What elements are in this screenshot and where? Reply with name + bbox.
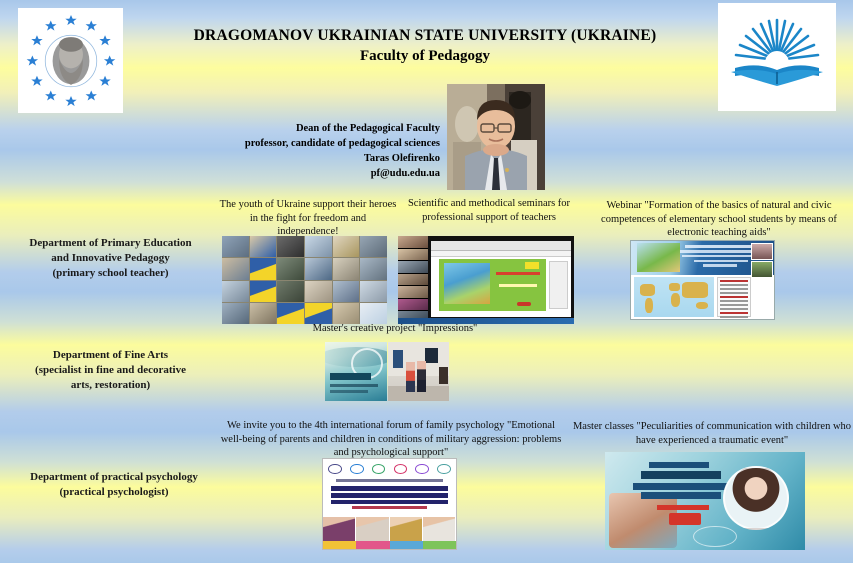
dean-email: pf@udu.edu.ua [190, 167, 440, 182]
poster-speaker-name [641, 471, 721, 480]
poster-speaker-portrait [723, 466, 789, 531]
poster-organizer-seal [693, 526, 737, 548]
presentation-slide [439, 259, 546, 311]
department-label-primary-education: Department of Primary Education and Inno… [8, 236, 213, 281]
gallery-artwork-2 [425, 348, 438, 363]
gallery-person-2 [417, 361, 426, 392]
forum-date-time [352, 506, 427, 510]
art-gallery-photo-two-students [388, 342, 449, 401]
impressions-exhibition-poster [325, 342, 387, 401]
poster-topic-line-1 [633, 483, 729, 490]
webinar-title-line5 [703, 264, 737, 267]
dept-primary-line1: Department of Primary Education [8, 236, 213, 251]
dean-credentials: professor, candidate of pedagogical scie… [190, 137, 440, 152]
slide-subtext-bar [499, 284, 537, 287]
browser-toolbar [431, 241, 571, 251]
poster-subtitle-bar-2 [330, 390, 368, 393]
department-label-practical-psychology: Department of practical psychology (prac… [8, 470, 220, 500]
dean-portrait-illustration [447, 84, 545, 190]
faculty-subtitle: Faculty of Pedagogy [170, 48, 680, 65]
dean-info-block: Dean of the Pedagogical Faculty professo… [190, 122, 440, 182]
poster-hands-photo [609, 493, 677, 548]
webinar-participant-cam-2 [751, 261, 772, 278]
shared-screen-area [428, 236, 574, 324]
poster-eyebrow-maister-klas [649, 462, 709, 468]
faculty-book-sun-logo [718, 3, 836, 111]
video-conference-screenshot-seminar [398, 236, 574, 324]
poster-date [657, 505, 709, 510]
world-map-graphic [634, 277, 714, 318]
book-sunrise-icon [727, 14, 827, 100]
dept-arts-line1: Department of Fine Arts [8, 348, 213, 363]
slide-button[interactable] [517, 302, 531, 307]
dept-psy-line1: Department of practical psychology [8, 470, 220, 485]
caption-youth-support: The youth of Ukraine support their heroe… [218, 198, 398, 239]
caption-webinar: Webinar "Formation of the basics of natu… [590, 199, 848, 240]
dept-arts-line2: (specialist in fine and decorative [8, 363, 213, 378]
photo-collage-youth-volunteering [222, 236, 387, 324]
webinar-title-line3 [682, 255, 759, 258]
webinar-slide-world-map [630, 240, 775, 320]
browser-window [431, 241, 571, 317]
caption-family-psychology-forum: We invite you to the 4th international f… [216, 419, 566, 460]
university-emblem-logo [18, 8, 123, 113]
forum-eyebrow-text [336, 479, 442, 483]
dean-name: Taras Olefirenko [190, 152, 440, 167]
page-title: DRAGOMANOV UKRAINIAN STATE UNIVERSITY (U… [170, 26, 680, 45]
forum-title-line-3 [331, 500, 448, 505]
webinar-title-line2 [680, 250, 763, 253]
dept-primary-line2: and Innovative Pedagogy [8, 251, 213, 266]
dean-portrait-photo [447, 84, 545, 190]
university-emblem-icon [25, 15, 117, 107]
poster-header: DRAGOMANOV UKRAINIAN STATE UNIVERSITY (U… [170, 26, 680, 65]
dean-role: Dean of the Pedagogical Faculty [190, 122, 440, 137]
gallery-scene [388, 342, 449, 401]
webinar-participant-cam-1 [751, 243, 772, 260]
slide-heading-bar [496, 272, 541, 276]
caption-seminars: Scientific and methodical seminars for p… [400, 197, 578, 224]
gallery-artwork-3 [439, 367, 448, 385]
gallery-artwork-1 [393, 350, 403, 368]
department-label-fine-arts: Department of Fine Arts (specialist in f… [8, 348, 213, 393]
webinar-title-line1 [685, 245, 757, 248]
master-class-poster-iryna-yevtushenko [605, 452, 805, 550]
forum-title-line-1 [331, 486, 448, 491]
caption-master-classes: Master classes "Peculiarities of communi… [572, 420, 852, 447]
webinar-text-panel [717, 277, 751, 318]
slide-sidebar [549, 261, 569, 310]
dept-arts-line3: arts, restoration) [8, 378, 213, 393]
impressions-poster-art [325, 342, 387, 401]
caption-impressions-project: Master's creative project "Impressions" [270, 322, 520, 336]
poster-canvas: DRAGOMANOV UKRAINIAN STATE UNIVERSITY (U… [0, 0, 853, 563]
webinar-title-line4 [694, 260, 748, 263]
forum-title-line-2 [331, 493, 448, 498]
family-psychology-forum-poster [322, 458, 457, 550]
slide-illustration [444, 263, 491, 303]
poster-time [669, 513, 701, 526]
participant-thumbnail-strip [398, 236, 428, 324]
webinar-child-photo [637, 243, 680, 272]
poster-topic-line-2 [641, 492, 721, 499]
gallery-person-1 [406, 362, 415, 392]
forum-partner-logos [328, 463, 450, 476]
dept-psy-line2: (practical psychologist) [8, 485, 220, 500]
dept-primary-line3: (primary school teacher) [8, 266, 213, 281]
slide-badge [525, 262, 540, 269]
poster-subtitle-bar-1 [330, 384, 378, 387]
collage-grid [222, 236, 387, 324]
poster-title-bar [330, 373, 371, 381]
browser-tabstrip [431, 251, 571, 257]
taskbar [398, 318, 574, 324]
forum-bottom-color-strip [323, 541, 456, 549]
